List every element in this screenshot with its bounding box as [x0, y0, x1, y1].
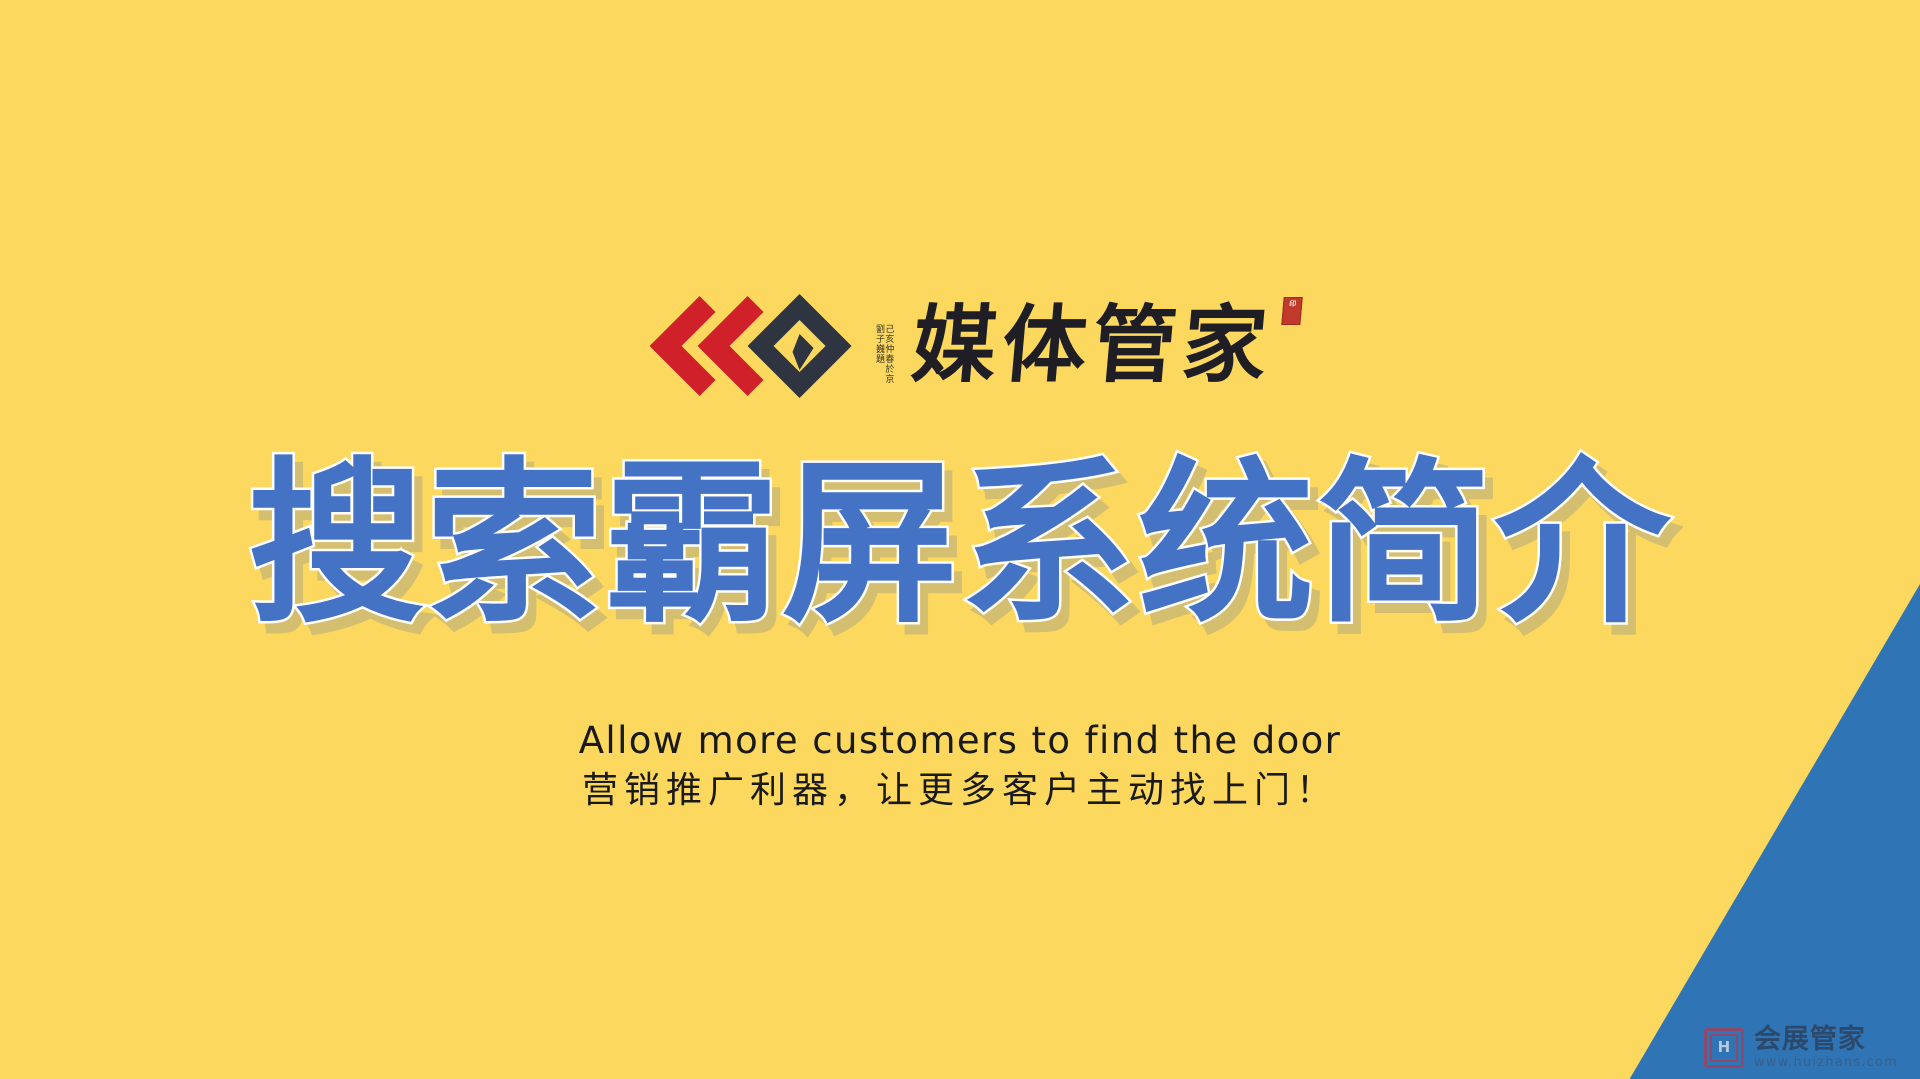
slide-title: 搜索霸屏系统简介 [0, 452, 1920, 639]
watermark-text-group: 会展管家 www.huizhans.com [1754, 1026, 1898, 1069]
watermark-name: 会展管家 [1754, 1026, 1898, 1053]
slide-tagline-group: Allow more customers to find the door 营销… [0, 718, 1920, 813]
tagline-chinese: 营销推广利器，让更多客户主动找上门！ [0, 768, 1920, 813]
brand-stamp-inscription-group: 己亥仲春於京 劉子巍題 [874, 290, 897, 400]
brand-logo-lockup: 己亥仲春於京 劉子巍題 媒体管家 印 [648, 290, 1273, 400]
corner-wedge-decoration [1590, 584, 1920, 1079]
brand-wordmark: 媒体管家 印 [909, 303, 1276, 387]
watermark-url: www.huizhans.com [1754, 1056, 1898, 1069]
brand-red-seal-icon: 印 [1281, 297, 1302, 325]
watermark-h-badge-icon: H [1704, 1028, 1744, 1068]
brand-wordmark-text: 媒体管家 [908, 295, 1277, 394]
brand-stamp-inscription: 己亥仲春於京 劉子巍題 [874, 290, 893, 384]
watermark: H 会展管家 www.huizhans.com [1704, 1026, 1898, 1069]
tagline-english: Allow more customers to find the door [0, 718, 1920, 764]
presentation-slide: 己亥仲春於京 劉子巍題 媒体管家 印 搜索霸屏系统简介 Allow more c… [0, 0, 1920, 1079]
media-butler-chevron-diamond-mark-icon [648, 290, 858, 400]
watermark-badge-letter: H [1718, 1040, 1731, 1055]
